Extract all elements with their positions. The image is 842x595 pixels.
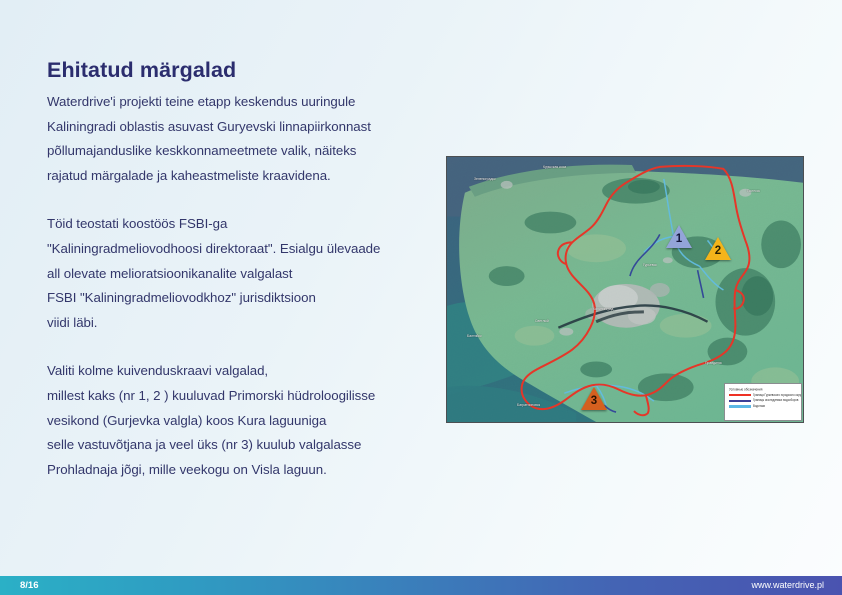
text-line: põllumajanduslike keskkonnameetmete vali… — [47, 139, 427, 164]
slide-footer: 8/16 www.waterdrive.pl — [0, 576, 842, 595]
map-marker-2: 2 — [705, 237, 731, 260]
text-line: Prohladnaja jõgi, mille veekogu on Visla… — [47, 458, 427, 483]
text-line: Valiti kolme kuivenduskraavi valgalad, — [47, 359, 427, 384]
presentation-slide: Ehitatud märgalad Waterdrive'i projekti … — [0, 0, 842, 595]
text-line: FSBI "Kaliningradmeliovodkhoz" jurisdikt… — [47, 286, 427, 311]
map-legend-label: Границы исследуемых водосборов — [753, 399, 798, 403]
map-marker-label: 2 — [705, 244, 731, 258]
text-line: Kaliningradi oblastis asuvast Guryevski … — [47, 115, 427, 140]
legend-swatch-boundary — [729, 394, 751, 396]
text-line: Töid teostati koostöös FSBI-ga — [47, 212, 427, 237]
map-legend-row: Границы исследуемых водосборов — [729, 399, 797, 402]
footer-url[interactable]: www.waterdrive.pl — [751, 576, 824, 595]
paragraph-3: Valiti kolme kuivenduskraavi valgalad, m… — [47, 359, 427, 482]
satellite-map-image: Зеленоградск Куршская коса Полесск Гурье… — [446, 156, 804, 423]
text-line: viidi läbi. — [47, 311, 427, 336]
page-number: 8/16 — [20, 576, 39, 595]
map-legend: Условные обозначения Граница Гурьевского… — [724, 383, 802, 421]
map-legend-title: Условные обозначения — [729, 387, 797, 392]
page-title: Ehitatud märgalad — [47, 58, 236, 83]
text-line: vesikond (Gurjevka valgla) koos Kura lag… — [47, 409, 427, 434]
map-legend-label: Водотоки — [753, 405, 765, 409]
body-text-column: Waterdrive'i projekti teine etapp kesken… — [47, 90, 427, 482]
map-marker-3: 3 — [581, 387, 607, 410]
map-marker-label: 1 — [666, 232, 692, 246]
paragraph-1: Waterdrive'i projekti teine etapp kesken… — [47, 90, 427, 188]
map-marker-label: 3 — [581, 394, 607, 408]
text-line: "Kaliningradmeliovodhoosi direktoraat". … — [47, 237, 427, 262]
map-marker-1: 1 — [666, 225, 692, 248]
map-legend-row: Граница Гурьевского городского округа — [729, 394, 797, 397]
text-line: all olevate melioratsioonikanalite valga… — [47, 262, 427, 287]
legend-swatch-watercourses — [729, 405, 751, 407]
legend-swatch-catchments — [729, 400, 751, 402]
text-line: Waterdrive'i projekti teine etapp kesken… — [47, 90, 427, 115]
text-line: selle vastuvõtjana ja veel üks (nr 3) ku… — [47, 433, 427, 458]
text-line: millest kaks (nr 1, 2 ) kuuluvad Primors… — [47, 384, 427, 409]
paragraph-2: Töid teostati koostöös FSBI-ga "Kalining… — [47, 212, 427, 335]
text-line: rajatud märgalade ja kaheastmeliste kraa… — [47, 164, 427, 189]
map-legend-row: Водотоки — [729, 405, 797, 408]
